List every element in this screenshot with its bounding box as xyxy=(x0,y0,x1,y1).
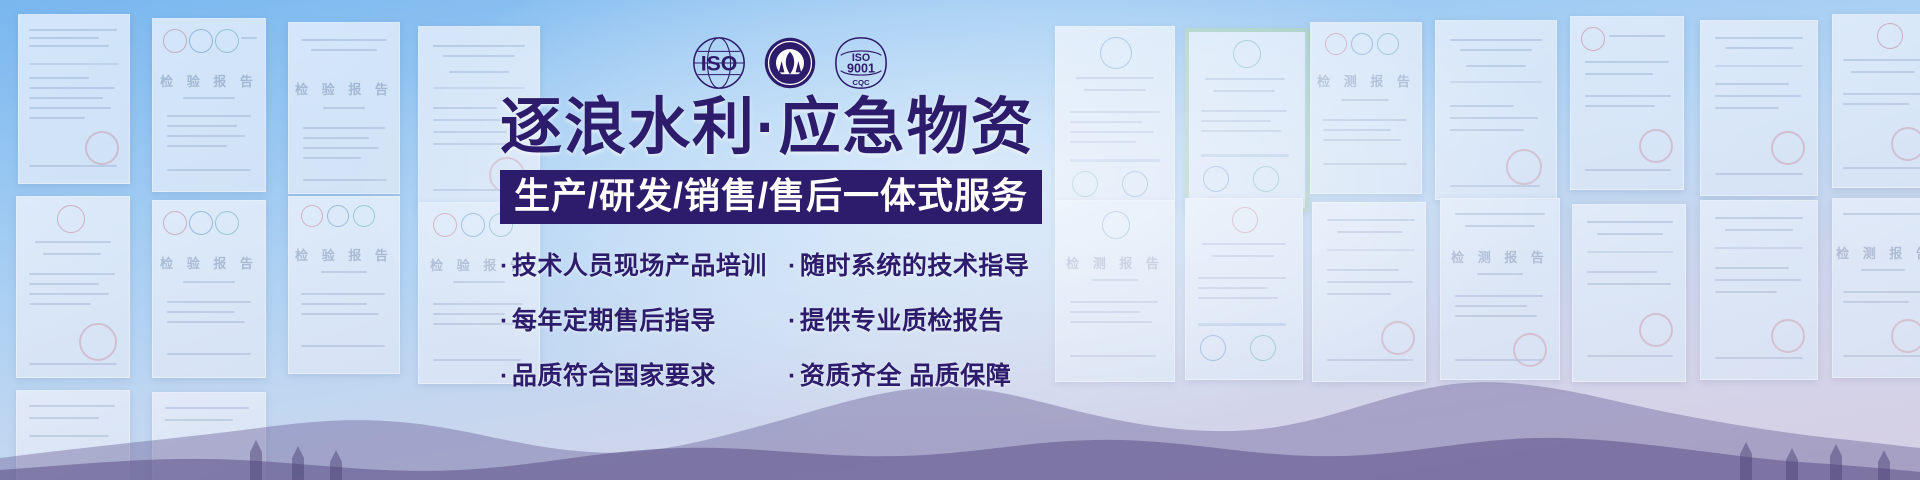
certificate-thumb xyxy=(1572,204,1686,382)
feature-item: ·资质齐全 品质保障 xyxy=(788,356,1100,392)
feature-label: 品质符合国家要求 xyxy=(512,362,716,390)
feature-item: ·提供专业质检报告 xyxy=(788,301,1100,337)
bullet-icon: · xyxy=(500,307,509,335)
feature-list: ·技术人员现场产品培训 ·随时系统的技术指导 ·每年定期售后指导 ·提供专业质检… xyxy=(500,246,1100,392)
banner-content: 逐浪水利·应急物资 生产/研发/销售/售后一体式服务 ·技术人员现场产品培训 ·… xyxy=(500,96,1100,392)
feature-item: ·随时系统的技术指导 xyxy=(788,246,1100,282)
feature-label: 技术人员现场产品培训 xyxy=(512,252,767,280)
subtitle-text: 生产/研发/销售/售后一体式服务 xyxy=(514,177,1028,215)
certificate-caption: 检 验 报 告 xyxy=(160,253,258,272)
feature-label: 资质齐全 品质保障 xyxy=(800,362,1011,390)
feature-label: 随时系统的技术指导 xyxy=(800,252,1030,280)
bullet-icon: · xyxy=(788,307,797,335)
certificate-caption: 检 测 报 告 xyxy=(1317,71,1415,90)
certificate-caption: 检 验 报 告 xyxy=(295,79,393,98)
feature-item: ·技术人员现场产品培训 xyxy=(500,246,782,282)
subtitle-bar: 生产/研发/销售/售后一体式服务 xyxy=(500,170,1042,224)
certificate-caption: 检 验 报 告 xyxy=(160,71,258,90)
cqc-badge-label: CQC xyxy=(852,78,870,87)
feature-item: ·每年定期售后指导 xyxy=(500,301,782,337)
iso9001-badge-label: 9001 xyxy=(847,62,875,76)
feature-label: 提供专业质检报告 xyxy=(800,307,1004,335)
bullet-icon: · xyxy=(788,252,797,280)
certificate-thumb: 检 验 报 告 xyxy=(152,18,266,192)
bullet-icon: · xyxy=(500,362,509,390)
iso-badge: ISO xyxy=(690,34,748,92)
certificate-thumb xyxy=(1185,28,1309,212)
certificate-thumb: 检 测 报 告 xyxy=(1310,22,1422,194)
promo-banner: 检 验 报 告 检 验 报 告 xyxy=(0,0,1920,480)
iso9001-cqc-badge: ISO 9001 CQC xyxy=(832,34,890,92)
certificate-caption: 检 验 报 告 xyxy=(295,245,393,264)
certificate-thumb xyxy=(1435,20,1557,200)
feature-item: ·品质符合国家要求 xyxy=(500,356,782,392)
certificate-caption: 检 测 报 告 xyxy=(1451,247,1549,266)
feature-label: 每年定期售后指导 xyxy=(512,307,716,335)
certificate-thumb xyxy=(1700,200,1818,380)
certificate-thumb xyxy=(16,390,130,480)
certificate-thumb xyxy=(16,196,130,378)
quality-seal-badge xyxy=(762,35,818,91)
certificate-thumb: 检 测 报 告 xyxy=(1440,198,1560,380)
bullet-icon: · xyxy=(500,252,509,280)
certificate-thumb: 检 测 报 告 xyxy=(1832,198,1920,378)
certificate-thumb xyxy=(1570,16,1684,190)
certificate-thumb xyxy=(1832,14,1920,188)
certificate-thumb: 检 验 报 告 xyxy=(288,22,400,194)
certificate-thumb xyxy=(1185,198,1303,380)
certificate-thumb: 检 验 报 告 xyxy=(152,200,266,378)
certificate-thumb xyxy=(18,14,130,184)
certificate-thumb: 检 验 报 告 xyxy=(288,196,400,374)
iso-badge-label: ISO xyxy=(701,52,738,76)
certificate-caption: 检 测 报 告 xyxy=(1836,243,1920,262)
certificate-thumb xyxy=(1700,20,1818,196)
page-title: 逐浪水利·应急物资 xyxy=(500,96,1100,160)
bullet-icon: · xyxy=(788,362,797,390)
certificate-thumb xyxy=(152,392,266,480)
certificate-thumb xyxy=(1312,202,1426,382)
certification-badges: ISO ISO 9001 CQC xyxy=(690,32,890,94)
